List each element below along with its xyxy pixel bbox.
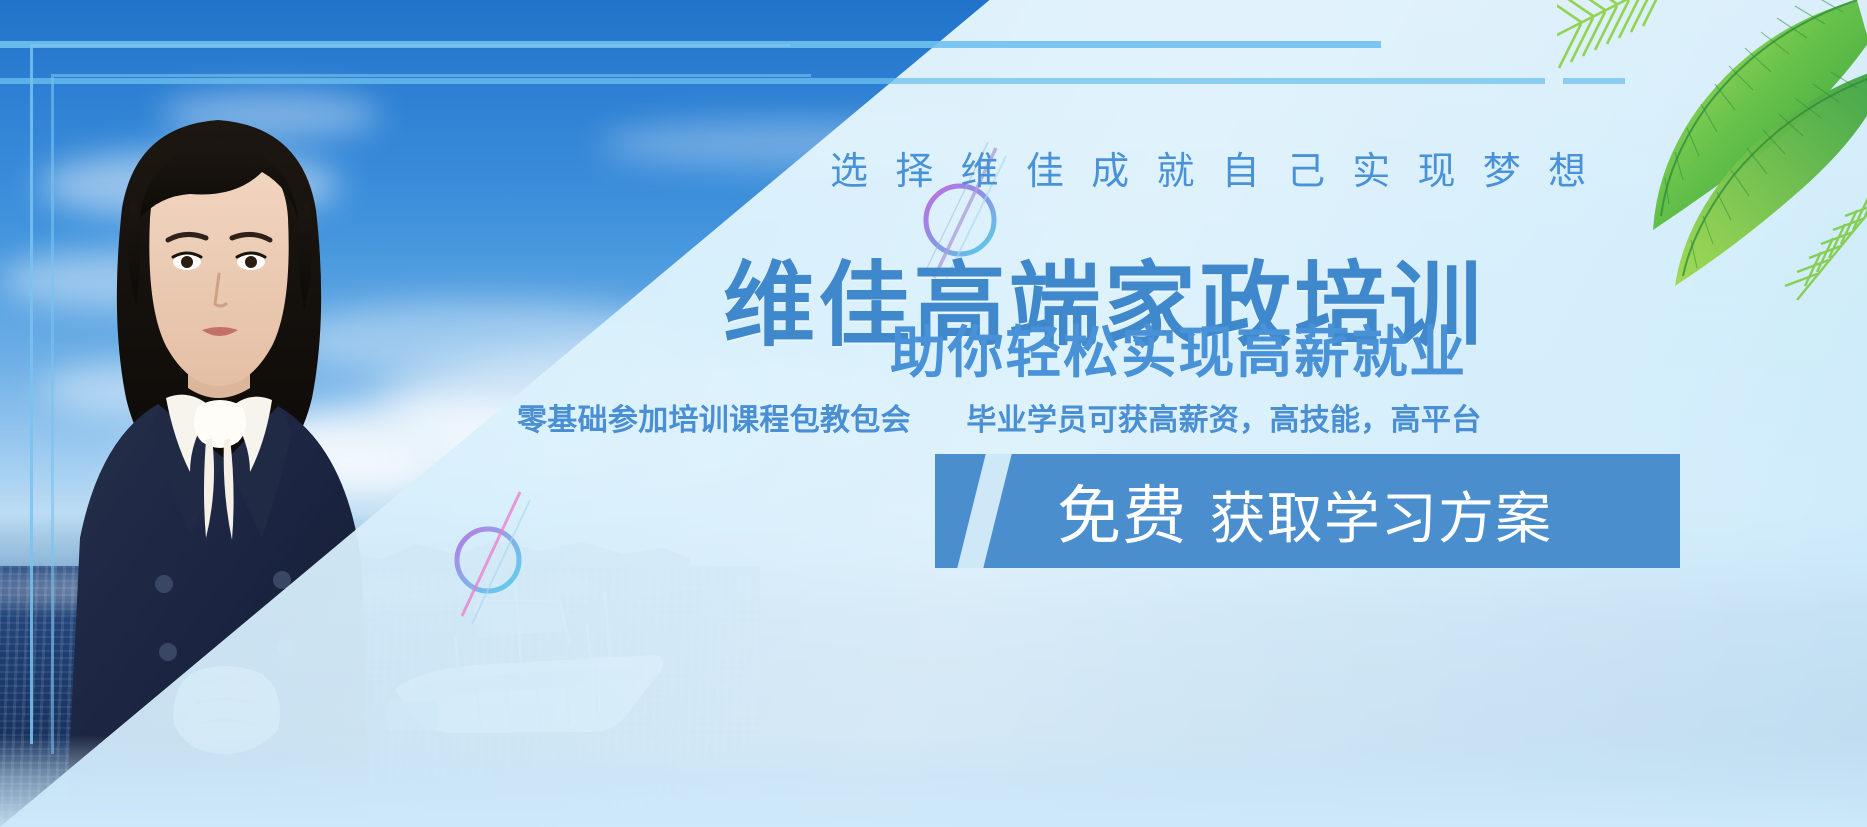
content-block: 选 择 维 佳 成 就 自 己 实 现 梦 想 维佳高端家政培训 助你轻松实现高…: [470, 0, 1867, 827]
subtitle: 助你轻松实现高薪就业: [890, 308, 1467, 389]
benefit-left: 零基础参加培训课程包教包会: [517, 403, 911, 438]
cta-emphasis: 免费: [1057, 465, 1188, 557]
promo-banner: 选 择 维 佳 成 就 自 己 实 现 梦 想 维佳高端家政培训 助你轻松实现高…: [0, 0, 1867, 827]
tagline: 选 择 维 佳 成 就 自 己 实 现 梦 想: [830, 140, 1594, 195]
cta-label-group: 免费 获取学习方案: [1057, 465, 1552, 557]
benefits-line: 零基础参加培训课程包教包会 毕业学员可获高薪资，高技能，高平台: [517, 395, 1482, 439]
slash-accent-icon: [955, 454, 1013, 568]
cta-button[interactable]: 免费 获取学习方案: [935, 454, 1680, 568]
benefit-right: 毕业学员可获高薪资，高技能，高平台: [966, 403, 1481, 438]
cta-label: 获取学习方案: [1210, 474, 1553, 555]
